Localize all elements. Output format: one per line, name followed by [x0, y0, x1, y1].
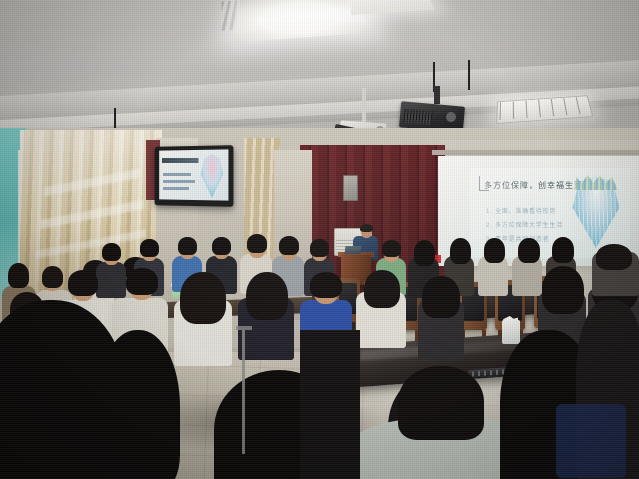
presenter-laptop — [345, 246, 362, 254]
tv-slide-bullet-1 — [163, 173, 191, 176]
stand-arm — [236, 326, 252, 330]
projector-right-vent — [403, 109, 432, 125]
presenter-hair — [360, 224, 373, 232]
projector-antenna-right-2 — [468, 60, 470, 90]
tv-slide-title — [162, 158, 199, 163]
projection-screen-rail — [432, 150, 639, 155]
projector-pole-center — [362, 88, 366, 124]
wall-speaker — [343, 175, 358, 201]
tissue-box — [502, 320, 520, 344]
foreground-gap-shadow — [300, 330, 360, 479]
stand-pole — [242, 330, 245, 454]
lecture-hall-photo: 多方位保障，创幸福生活 1. 全面、准确看待形势 2. 多方位保障大学生生活 3… — [0, 0, 639, 479]
projector-pole-right — [434, 86, 440, 104]
tv-slide-bullet-3 — [163, 187, 189, 190]
front-chair-back[interactable] — [556, 404, 626, 478]
tv-slide-bullet-2 — [163, 180, 195, 183]
